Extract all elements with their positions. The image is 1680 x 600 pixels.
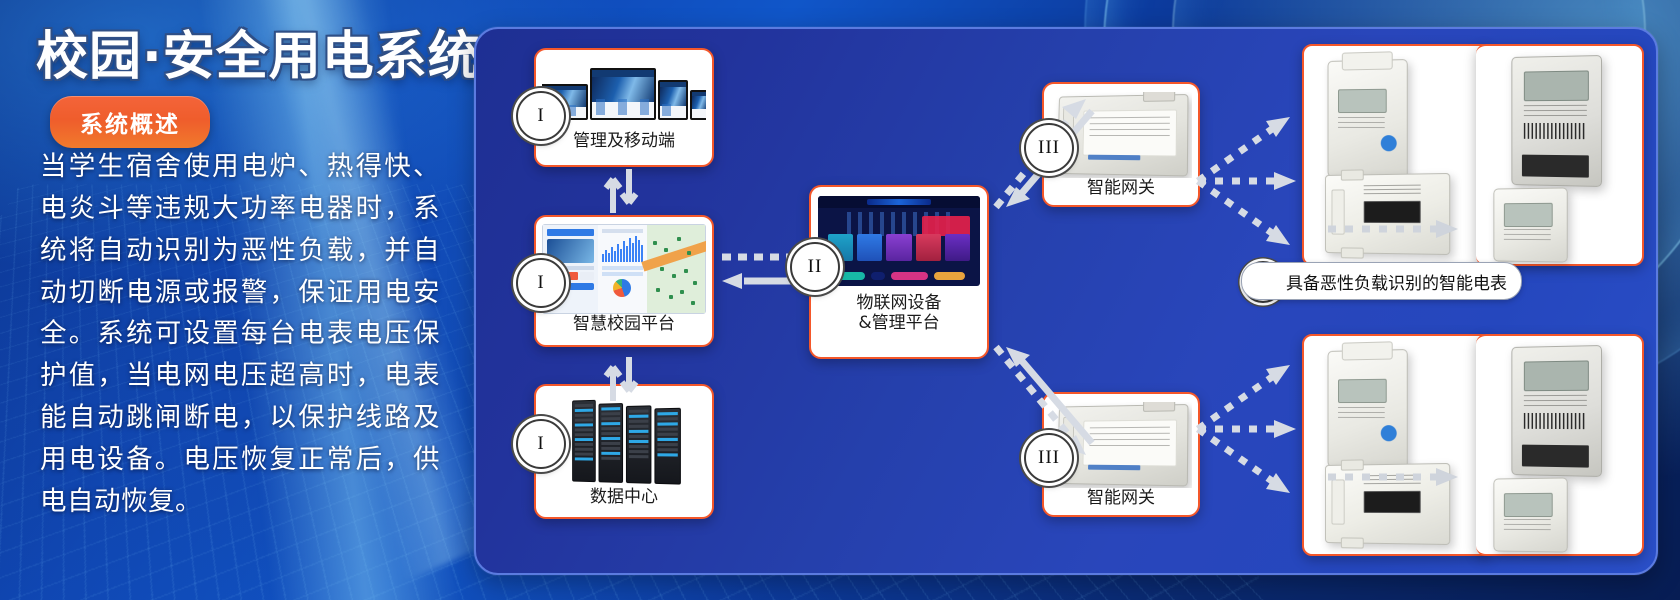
node-smart-meters-bottom[interactable] [1302, 334, 1492, 556]
arrow-campus-datacenter [601, 355, 641, 403]
node-smart-meters-bottom-right[interactable] [1476, 334, 1644, 556]
node-smart-campus-label: 智慧校园平台 [573, 314, 675, 334]
badge-gateway-top: III [1024, 123, 1074, 173]
data-center-servers-image [542, 395, 706, 487]
arrow-gateway-bottom-to-meters [1194, 329, 1314, 529]
arrow-meter-to-meter-bottom [1326, 459, 1466, 495]
node-admin-mobile-label: 管理及移动端 [573, 131, 675, 151]
badge-iot-platform: II [790, 242, 840, 292]
left-column: 校园·安全用电系统 系统概述 当学生宿舍使用电炉、热得快、电炎斗等违规大功率电器… [0, 0, 470, 600]
badge-gateway-bottom: III [1024, 433, 1074, 483]
node-data-center-label: 数据中心 [590, 487, 658, 507]
diagram-panel: 管理及移动端 I [474, 27, 1658, 575]
admin-mobile-devices-image [542, 57, 706, 131]
arrow-admin-campus [601, 167, 641, 215]
meters-caption-label: 具备恶性负载识别的智能电表 [1286, 269, 1507, 294]
infographic-root: 校园·安全用电系统 系统概述 当学生宿舍使用电炉、热得快、电炎斗等违规大功率电器… [0, 0, 1680, 600]
page-title: 校园·安全用电系统 [36, 14, 481, 89]
smart-campus-screenshot-image [542, 224, 706, 314]
node-smart-meters-top-right[interactable] [1476, 44, 1644, 266]
meters-bottom-right-image [1476, 336, 1642, 554]
node-gateway-bottom-label: 智能网关 [1087, 488, 1155, 508]
node-iot-platform-label-line2: &管理平台 [858, 313, 939, 333]
badge-smart-campus: I [516, 258, 566, 308]
meters-bottom-image [1304, 336, 1490, 554]
arrow-meter-to-meter-top [1326, 211, 1466, 247]
iot-platform-screenshot-image [818, 195, 980, 287]
overview-paragraph: 当学生宿舍使用电炉、热得快、电炎斗等违规大功率电器时，系统将自动识别为恶性负载，… [40, 146, 440, 523]
badge-admin-mobile: I [516, 91, 566, 141]
meters-top-right-image [1476, 46, 1642, 264]
section-pill-system-overview: 系统概述 [50, 96, 210, 148]
meters-caption-pill: 具备恶性负载识别的智能电表 [1241, 262, 1522, 300]
arrow-gateway-top-to-meters [1194, 81, 1314, 281]
badge-data-center: I [516, 419, 566, 469]
node-iot-platform-label-line1: 物联网设备 [857, 293, 942, 313]
